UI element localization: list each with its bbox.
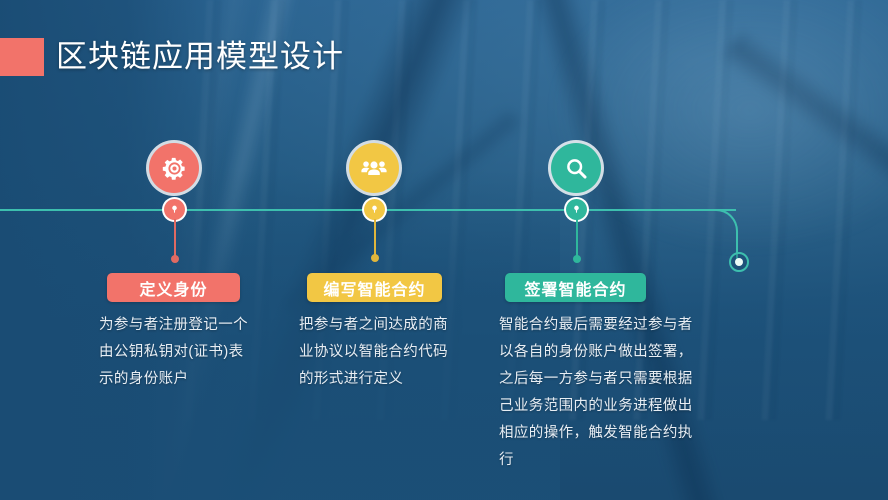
step-2-badge[interactable]: 编写智能合约 xyxy=(307,273,442,302)
timeline-node-2[interactable] xyxy=(364,199,385,220)
timeline-stem-3 xyxy=(576,219,578,259)
timeline-stem-dot-2 xyxy=(371,254,379,262)
step-1-description: 为参与者注册登记一个由公钥私钥对(证书)表示的身份账户 xyxy=(99,312,251,393)
timeline-end-marker xyxy=(729,252,749,272)
timeline-node-1[interactable] xyxy=(164,199,185,220)
title-accent-block xyxy=(0,38,44,76)
step-2-description: 把参与者之间达成的商业协议以智能合约代码的形式进行定义 xyxy=(299,312,451,393)
timeline-node-3[interactable] xyxy=(566,199,587,220)
timeline-stem-1 xyxy=(174,219,176,258)
timeline-stem-dot-1 xyxy=(171,255,179,263)
slide-canvas: 区块链应用模型设计 定义身份 为参与者注册登记一个由公钥私钥对(证书)表示的身份… xyxy=(0,0,888,500)
timeline-stem-dot-3 xyxy=(573,255,581,263)
timeline-stem-2 xyxy=(374,219,376,258)
page-title: 区块链应用模型设计 xyxy=(56,37,344,77)
step-3-description: 智能合约最后需要经过参与者以各自的身份账户做出签署，之后每一方参与者只需要根据己… xyxy=(499,312,707,474)
gear-icon[interactable] xyxy=(149,143,199,193)
search-icon[interactable] xyxy=(551,143,601,193)
step-1-badge[interactable]: 定义身份 xyxy=(107,273,240,302)
step-3-badge[interactable]: 签署智能合约 xyxy=(505,273,646,302)
users-group-icon[interactable] xyxy=(349,143,399,193)
